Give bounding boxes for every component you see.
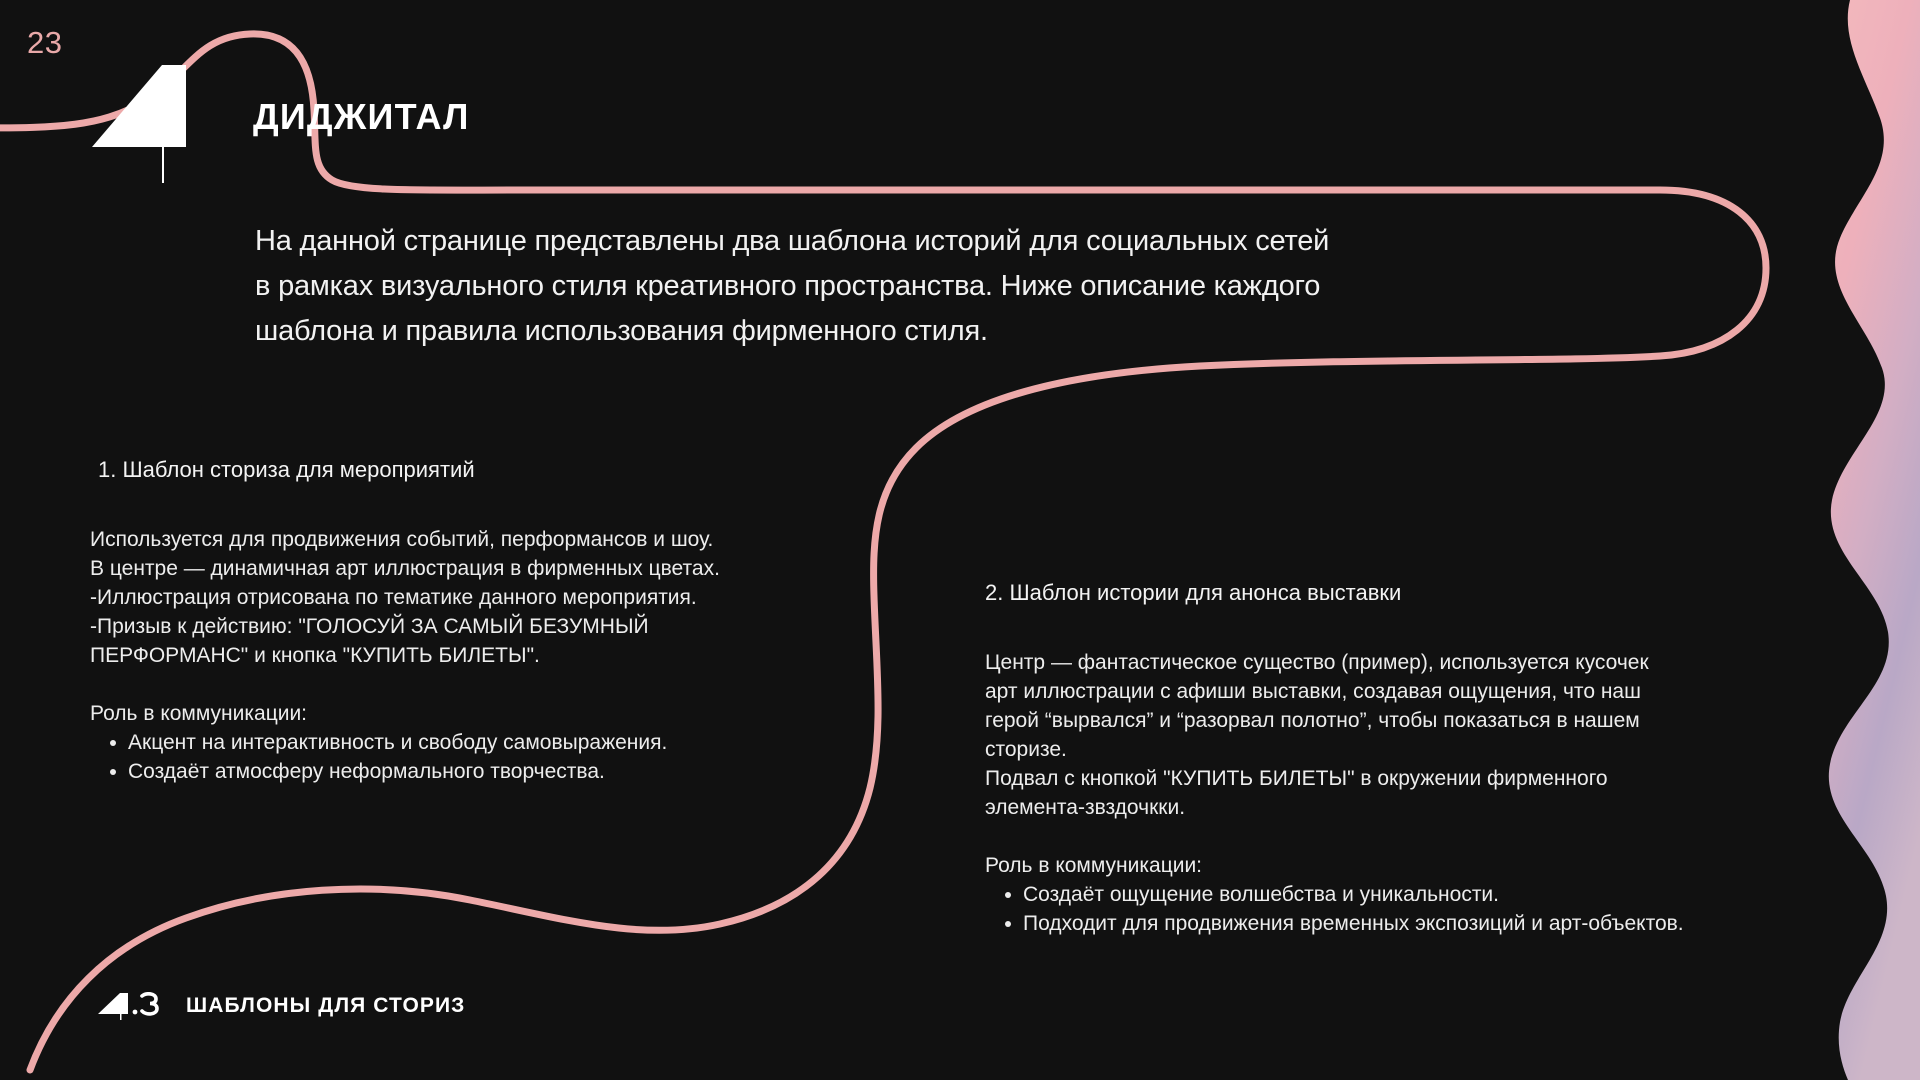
column-1-body-line-4: -Призыв к действию: "ГОЛОСУЙ ЗА САМЫЙ БЕ… xyxy=(90,612,880,641)
slide-root: 23 ДИДЖИТАЛ На данной странице представл… xyxy=(0,0,1920,1080)
list-item: Акцент на интерактивность и свободу само… xyxy=(90,728,880,757)
column-1-body-line-5: ПЕРФОРМАНС" и кнопка "КУПИТЬ БИЛЕТЫ". xyxy=(90,641,880,670)
column-1-body-line-3: -Иллюстрация отрисована по тематике данн… xyxy=(90,583,880,612)
column-1-bullet-1: Акцент на интерактивность и свободу само… xyxy=(128,728,880,757)
column-2-body-line-6: элемента-звздочкки. xyxy=(985,793,1785,822)
page-number: 23 xyxy=(27,25,62,61)
footer: ШАБЛОНЫ ДЛЯ СТОРИЗ xyxy=(90,992,465,1020)
column-1-body-line-1: Используется для продвижения событий, пе… xyxy=(90,525,880,554)
footer-logo-mark xyxy=(90,992,172,1020)
list-item: Создаёт атмосферу неформального творчест… xyxy=(90,757,880,786)
intro-line-1: На данной странице представлены два шабл… xyxy=(255,219,1545,264)
column-1-title: 1. Шаблон сториза для мероприятий xyxy=(90,455,880,485)
column-1-body: Используется для продвижения событий, пе… xyxy=(90,525,880,670)
column-2-bullet-list: Создаёт ощущение волшебства и уникальнос… xyxy=(985,880,1785,938)
column-2-bullet-1: Создаёт ощущение волшебства и уникальнос… xyxy=(1023,880,1785,909)
column-2-body-line-5: Подвал с кнопкой "КУПИТЬ БИЛЕТЫ" в окруж… xyxy=(985,764,1785,793)
footer-label: ШАБЛОНЫ ДЛЯ СТОРИЗ xyxy=(186,994,465,1018)
column-1-bullet-2: Создаёт атмосферу неформального творчест… xyxy=(128,757,880,786)
intro-paragraph: На данной странице представлены два шабл… xyxy=(255,219,1545,354)
column-2-body-line-2: арт иллюстрации с афиши выставки, создав… xyxy=(985,677,1785,706)
column-1-role-label: Роль в коммуникации: xyxy=(90,699,880,728)
column-2-bullet-2: Подходит для продвижения временных экспо… xyxy=(1023,909,1785,938)
intro-line-2: в рамках визуального стиля креативного п… xyxy=(255,264,1545,309)
column-2-title: 2. Шаблон истории для анонса выставки xyxy=(985,578,1785,608)
column-2-body: Центр — фантастическое существо (пример)… xyxy=(985,648,1785,822)
column-2-role-label: Роль в коммуникации: xyxy=(985,851,1785,880)
section-title: ДИДЖИТАЛ xyxy=(253,96,470,138)
column-template-1: 1. Шаблон сториза для мероприятий Исполь… xyxy=(90,455,880,786)
section-numeral-4 xyxy=(90,63,210,183)
column-2-body-line-3: герой “вырвался” и “разорвал полотно”, ч… xyxy=(985,706,1785,735)
column-1-bullet-list: Акцент на интерактивность и свободу само… xyxy=(90,728,880,786)
column-template-2: 2. Шаблон истории для анонса выставки Це… xyxy=(985,578,1785,938)
column-2-body-line-4: сторизе. xyxy=(985,735,1785,764)
column-1-body-line-2: В центре — динамичная арт иллюстрация в … xyxy=(90,554,880,583)
list-item: Подходит для продвижения временных экспо… xyxy=(985,909,1785,938)
intro-line-3: шаблона и правила использования фирменно… xyxy=(255,309,1545,354)
column-2-body-line-1: Центр — фантастическое существо (пример)… xyxy=(985,648,1785,677)
list-item: Создаёт ощущение волшебства и уникальнос… xyxy=(985,880,1785,909)
